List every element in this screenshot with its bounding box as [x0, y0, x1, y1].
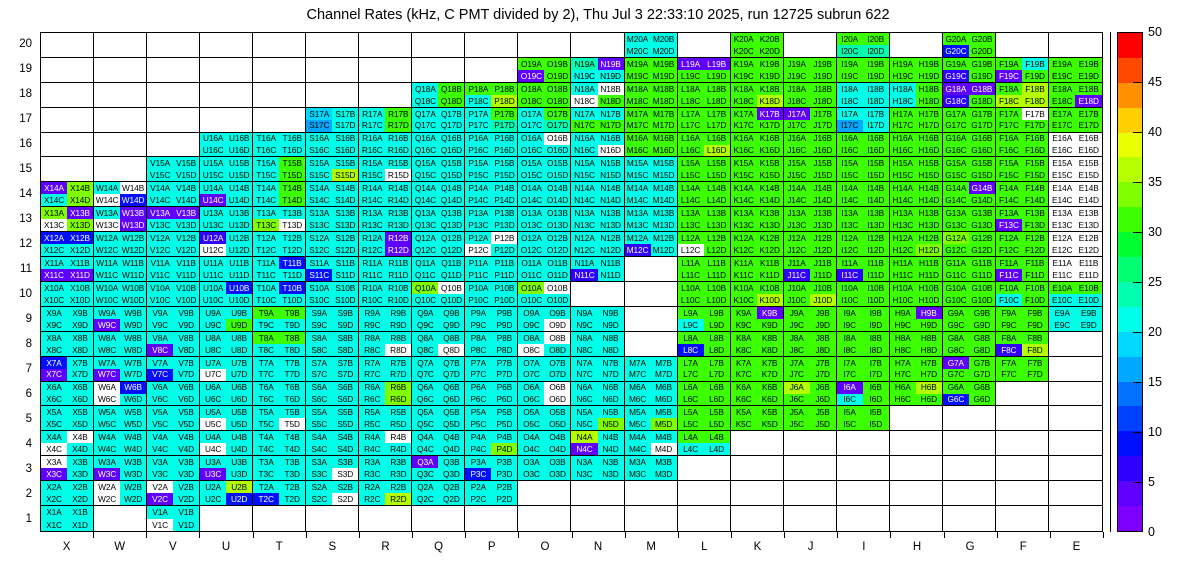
grid-cell-U1[interactable]	[200, 506, 253, 531]
grid-cell-U13[interactable]: U13AU13BU13CU13D	[200, 207, 253, 232]
grid-cell-S9[interactable]: S9AS9BS9CS9D	[306, 307, 359, 332]
grid-cell-F18[interactable]: F18AF18BF18CF18D	[996, 83, 1049, 108]
grid-cell-I2[interactable]	[837, 481, 890, 506]
grid-cell-Q14[interactable]: Q14AQ14BQ14CQ14D	[412, 182, 465, 207]
grid-cell-O5[interactable]: O5AO5BO5CO5D	[518, 406, 571, 431]
grid-cell-F8[interactable]: F8AF8BF8CF8D	[996, 332, 1049, 357]
grid-cell-R19[interactable]	[359, 58, 412, 83]
grid-cell-N18[interactable]: N18AN18BN18CN18D	[571, 83, 624, 108]
grid-cell-U16[interactable]: U16AU16BU16CU16D	[200, 133, 253, 158]
grid-cell-S5[interactable]: S5AS5BS5CS5D	[306, 406, 359, 431]
grid-cell-M12[interactable]: M12AM12BM12CM12D	[625, 232, 678, 257]
grid-cell-O20[interactable]	[518, 33, 571, 58]
grid-cell-P4[interactable]: P4AP4BP4CP4D	[465, 431, 518, 456]
grid-cell-W9[interactable]: W9AW9BW9CW9D	[94, 307, 147, 332]
grid-cell-P7[interactable]: P7AP7BP7CP7D	[465, 357, 518, 382]
grid-cell-T18[interactable]	[253, 83, 306, 108]
grid-cell-U15[interactable]: U15AU15BU15CU15D	[200, 157, 253, 182]
grid-cell-N16[interactable]: N16AN16BN16CN16D	[571, 133, 624, 158]
grid-cell-N20[interactable]	[571, 33, 624, 58]
grid-cell-G20[interactable]: G20AG20BG20CG20D	[943, 33, 996, 58]
grid-cell-G1[interactable]	[943, 506, 996, 531]
grid-cell-W11[interactable]: W11AW11BW11CW11D	[94, 257, 147, 282]
grid-cell-J16[interactable]: J16AJ16BJ16CJ16D	[784, 133, 837, 158]
grid-cell-S11[interactable]: S11AS11BS11CS11D	[306, 257, 359, 282]
grid-cell-R10[interactable]: R10AR10BR10CR10D	[359, 282, 412, 307]
grid-cell-R7[interactable]: R7AR7BR7CR7D	[359, 357, 412, 382]
grid-cell-I3[interactable]	[837, 456, 890, 481]
grid-cell-X6[interactable]: X6AX6BX6CX6D	[41, 382, 94, 407]
grid-cell-E12[interactable]: E12AE12BE12CE12D	[1049, 232, 1102, 257]
grid-cell-N13[interactable]: N13AN13BN13CN13D	[571, 207, 624, 232]
grid-cell-U10[interactable]: U10AU10BU10CU10D	[200, 282, 253, 307]
grid-cell-G12[interactable]: G12AG12BG12CG12D	[943, 232, 996, 257]
grid-cell-I4[interactable]	[837, 431, 890, 456]
grid-cell-I10[interactable]: I10AI10BI10CI10D	[837, 282, 890, 307]
grid-cell-Q19[interactable]	[412, 58, 465, 83]
grid-cell-K12[interactable]: K12AK12BK12CK12D	[731, 232, 784, 257]
grid-cell-Q11[interactable]: Q11AQ11BQ11CQ11D	[412, 257, 465, 282]
grid-cell-M10[interactable]	[625, 282, 678, 307]
grid-cell-L19[interactable]: L19AL19BL19CL19D	[678, 58, 731, 83]
grid-cell-W6[interactable]: W6AW6BW6CW6D	[94, 382, 147, 407]
grid-cell-K1[interactable]	[731, 506, 784, 531]
grid-cell-G7[interactable]: G7AG7BG7CG7D	[943, 357, 996, 382]
grid-cell-I19[interactable]: I19AI19BI19CI19D	[837, 58, 890, 83]
grid-cell-J12[interactable]: J12AJ12BJ12CJ12D	[784, 232, 837, 257]
grid-cell-Q9[interactable]: Q9AQ9BQ9CQ9D	[412, 307, 465, 332]
grid-cell-L11[interactable]: L11AL11BL11CL11D	[678, 257, 731, 282]
grid-cell-E6[interactable]	[1049, 382, 1102, 407]
grid-cell-F19[interactable]: F19AF19BF19CF19D	[996, 58, 1049, 83]
grid-cell-E13[interactable]: E13AE13BE13CE13D	[1049, 207, 1102, 232]
grid-cell-K3[interactable]	[731, 456, 784, 481]
grid-cell-V5[interactable]: V5AV5BV5CV5D	[147, 406, 200, 431]
grid-cell-N8[interactable]: N8AN8BN8CN8D	[571, 332, 624, 357]
grid-cell-H19[interactable]: H19AH19BH19CH19D	[890, 58, 943, 83]
grid-cell-E15[interactable]: E15AE15BE15CE15D	[1049, 157, 1102, 182]
grid-cell-X14[interactable]: X14AX14BX14CX14D	[41, 182, 94, 207]
grid-cell-Q8[interactable]: Q8AQ8BQ8CQ8D	[412, 332, 465, 357]
grid-cell-S19[interactable]	[306, 58, 359, 83]
grid-cell-J4[interactable]	[784, 431, 837, 456]
grid-cell-T3[interactable]: T3AT3BT3CT3D	[253, 456, 306, 481]
grid-cell-V3[interactable]: V3AV3BV3CV3D	[147, 456, 200, 481]
grid-cell-E7[interactable]	[1049, 357, 1102, 382]
grid-cell-G18[interactable]: G18AG18BG18CG18D	[943, 83, 996, 108]
grid-cell-N7[interactable]: N7AN7BN7CN7D	[571, 357, 624, 382]
grid-cell-G3[interactable]	[943, 456, 996, 481]
grid-cell-Q2[interactable]: Q2AQ2BQ2CQ2D	[412, 481, 465, 506]
grid-cell-P9[interactable]: P9AP9BP9CP9D	[465, 307, 518, 332]
grid-cell-K7[interactable]: K7AK7BK7CK7D	[731, 357, 784, 382]
grid-cell-R17[interactable]: R17AR17BR17CR17D	[359, 108, 412, 133]
grid-cell-K20[interactable]: K20AK20BK20CK20D	[731, 33, 784, 58]
grid-cell-H20[interactable]	[890, 33, 943, 58]
grid-cell-P12[interactable]: P12AP12BP12CP12D	[465, 232, 518, 257]
grid-cell-L12[interactable]: L12AL12BL12CL12D	[678, 232, 731, 257]
grid-cell-K9[interactable]: K9AK9BK9CK9D	[731, 307, 784, 332]
grid-cell-F13[interactable]: F13AF13BF13CF13D	[996, 207, 1049, 232]
grid-cell-P20[interactable]	[465, 33, 518, 58]
grid-cell-K8[interactable]: K8AK8BK8CK8D	[731, 332, 784, 357]
grid-cell-S4[interactable]: S4AS4BS4CS4D	[306, 431, 359, 456]
grid-cell-L9[interactable]: L9AL9BL9CL9D	[678, 307, 731, 332]
grid-cell-I11[interactable]: I11AI11BI11CI11D	[837, 257, 890, 282]
grid-cell-L1[interactable]	[678, 506, 731, 531]
grid-cell-L13[interactable]: L13AL13BL13CL13D	[678, 207, 731, 232]
grid-cell-E18[interactable]: E18AE18BE18CE18D	[1049, 83, 1102, 108]
grid-cell-W8[interactable]: W8AW8BW8CW8D	[94, 332, 147, 357]
grid-cell-H9[interactable]: H9AH9BH9CH9D	[890, 307, 943, 332]
grid-cell-K15[interactable]: K15AK15BK15CK15D	[731, 157, 784, 182]
grid-cell-W5[interactable]: W5AW5BW5CW5D	[94, 406, 147, 431]
grid-cell-T14[interactable]: T14AT14BT14CT14D	[253, 182, 306, 207]
grid-cell-V8[interactable]: V8AV8BV8CV8D	[147, 332, 200, 357]
grid-cell-V12[interactable]: V12AV12BV12CV12D	[147, 232, 200, 257]
grid-cell-R14[interactable]: R14AR14BR14CR14D	[359, 182, 412, 207]
grid-cell-T11[interactable]: T11AT11BT11CT11D	[253, 257, 306, 282]
grid-cell-I12[interactable]: I12AI12BI12CI12D	[837, 232, 890, 257]
grid-cell-F4[interactable]	[996, 431, 1049, 456]
grid-cell-R20[interactable]	[359, 33, 412, 58]
grid-cell-F17[interactable]: F17AF17BF17CF17D	[996, 108, 1049, 133]
grid-cell-N14[interactable]: N14AN14BN14CN14D	[571, 182, 624, 207]
grid-cell-M13[interactable]: M13AM13BM13CM13D	[625, 207, 678, 232]
grid-cell-K14[interactable]: K14AK14BK14CK14D	[731, 182, 784, 207]
grid-cell-U5[interactable]: U5AU5BU5CU5D	[200, 406, 253, 431]
grid-cell-R8[interactable]: R8AR8BR8CR8D	[359, 332, 412, 357]
grid-cell-S8[interactable]: S8AS8BS8CS8D	[306, 332, 359, 357]
grid-cell-X4[interactable]: X4AX4BX4CX4D	[41, 431, 94, 456]
grid-cell-X3[interactable]: X3AX3BX3CX3D	[41, 456, 94, 481]
grid-cell-T17[interactable]	[253, 108, 306, 133]
grid-cell-R6[interactable]: R6AR6BR6CR6D	[359, 382, 412, 407]
grid-cell-H11[interactable]: H11AH11BH11CH11D	[890, 257, 943, 282]
grid-cell-F2[interactable]	[996, 481, 1049, 506]
grid-cell-N1[interactable]	[571, 506, 624, 531]
grid-cell-P8[interactable]: P8AP8BP8CP8D	[465, 332, 518, 357]
grid-cell-W14[interactable]: W14AW14BW14CW14D	[94, 182, 147, 207]
grid-cell-F5[interactable]	[996, 406, 1049, 431]
grid-cell-H10[interactable]: H10AH10BH10CH10D	[890, 282, 943, 307]
grid-cell-G13[interactable]: G13AG13BG13CG13D	[943, 207, 996, 232]
grid-cell-T7[interactable]: T7AT7BT7CT7D	[253, 357, 306, 382]
grid-cell-I16[interactable]: I16AI16BI16CI16D	[837, 133, 890, 158]
grid-cell-L6[interactable]: L6AL6BL6CL6D	[678, 382, 731, 407]
grid-cell-R18[interactable]	[359, 83, 412, 108]
grid-cell-N5[interactable]: N5AN5BN5CN5D	[571, 406, 624, 431]
grid-cell-E17[interactable]: E17AE17BE17CE17D	[1049, 108, 1102, 133]
grid-cell-M15[interactable]: M15AM15BM15CM15D	[625, 157, 678, 182]
grid-cell-I18[interactable]: I18AI18BI18CI18D	[837, 83, 890, 108]
grid-cell-K19[interactable]: K19AK19BK19CK19D	[731, 58, 784, 83]
grid-cell-R2[interactable]: R2AR2BR2CR2D	[359, 481, 412, 506]
grid-cell-S18[interactable]	[306, 83, 359, 108]
grid-cell-M4[interactable]: M4AM4BM4CM4D	[625, 431, 678, 456]
grid-cell-P10[interactable]: P10AP10BP10CP10D	[465, 282, 518, 307]
grid-cell-O10[interactable]: O10AO10BO10CO10D	[518, 282, 571, 307]
grid-cell-H5[interactable]	[890, 406, 943, 431]
grid-cell-N11[interactable]: N11AN11BN11CN11D	[571, 257, 624, 282]
grid-cell-K5[interactable]: K5AK5BK5CK5D	[731, 406, 784, 431]
grid-cell-N15[interactable]: N15AN15BN15CN15D	[571, 157, 624, 182]
grid-cell-X19[interactable]	[41, 58, 94, 83]
grid-cell-R1[interactable]	[359, 506, 412, 531]
grid-cell-H17[interactable]: H17AH17BH17CH17D	[890, 108, 943, 133]
grid-cell-W3[interactable]: W3AW3BW3CW3D	[94, 456, 147, 481]
grid-cell-O18[interactable]: O18AO18BO18CO18D	[518, 83, 571, 108]
grid-cell-H18[interactable]: H18AH18BH18CH18D	[890, 83, 943, 108]
grid-cell-R13[interactable]: R13AR13BR13CR13D	[359, 207, 412, 232]
grid-cell-G15[interactable]: G15AG15BG15CG15D	[943, 157, 996, 182]
grid-cell-S14[interactable]: S14AS14BS14CS14D	[306, 182, 359, 207]
grid-cell-G11[interactable]: G11AG11BG11CG11D	[943, 257, 996, 282]
grid-cell-V7[interactable]: V7AV7BV7CV7D	[147, 357, 200, 382]
grid-cell-V2[interactable]: V2AV2BV2CV2D	[147, 481, 200, 506]
grid-cell-S13[interactable]: S13AS13BS13CS13D	[306, 207, 359, 232]
grid-cell-X5[interactable]: X5AX5BX5CX5D	[41, 406, 94, 431]
grid-cell-V16[interactable]	[147, 133, 200, 158]
grid-cell-O14[interactable]: O14AO14BO14CO14D	[518, 182, 571, 207]
grid-cell-T12[interactable]: T12AT12BT12CT12D	[253, 232, 306, 257]
grid-cell-E16[interactable]: E16AE16BE16CE16D	[1049, 133, 1102, 158]
grid-cell-U4[interactable]: U4AU4BU4CU4D	[200, 431, 253, 456]
grid-cell-K16[interactable]: K16AK16BK16CK16D	[731, 133, 784, 158]
grid-cell-E19[interactable]: E19AE19BE19CE19D	[1049, 58, 1102, 83]
grid-cell-U8[interactable]: U8AU8BU8CU8D	[200, 332, 253, 357]
grid-cell-G19[interactable]: G19AG19BG19CG19D	[943, 58, 996, 83]
grid-cell-H13[interactable]: H13AH13BH13CH13D	[890, 207, 943, 232]
grid-cell-I13[interactable]: I13AI13BI13CI13D	[837, 207, 890, 232]
grid-cell-T2[interactable]: T2AT2BT2CT2D	[253, 481, 306, 506]
grid-cell-K17[interactable]: K17AK17BK17CK17D	[731, 108, 784, 133]
grid-cell-U9[interactable]: U9AU9BU9CU9D	[200, 307, 253, 332]
grid-cell-W20[interactable]	[94, 33, 147, 58]
grid-cell-H15[interactable]: H15AH15BH15CH15D	[890, 157, 943, 182]
grid-cell-F11[interactable]: F11AF11BF11CF11D	[996, 257, 1049, 282]
grid-cell-Q4[interactable]: Q4AQ4BQ4CQ4D	[412, 431, 465, 456]
grid-cell-U14[interactable]: U14AU14BU14CU14D	[200, 182, 253, 207]
grid-cell-P5[interactable]: P5AP5BP5CP5D	[465, 406, 518, 431]
grid-cell-W13[interactable]: W13AW13BW13CW13D	[94, 207, 147, 232]
grid-cell-X16[interactable]	[41, 133, 94, 158]
grid-cell-X1[interactable]: X1AX1BX1CX1D	[41, 506, 94, 531]
grid-cell-T6[interactable]: T6AT6BT6CT6D	[253, 382, 306, 407]
grid-cell-P19[interactable]	[465, 58, 518, 83]
grid-cell-V17[interactable]	[147, 108, 200, 133]
grid-cell-L15[interactable]: L15AL15BL15CL15D	[678, 157, 731, 182]
grid-cell-K2[interactable]	[731, 481, 784, 506]
grid-cell-J15[interactable]: J15AJ15BJ15CJ15D	[784, 157, 837, 182]
grid-cell-S17[interactable]: S17AS17BS17CS17D	[306, 108, 359, 133]
grid-cell-H1[interactable]	[890, 506, 943, 531]
grid-cell-N6[interactable]: N6AN6BN6CN6D	[571, 382, 624, 407]
grid-cell-P3[interactable]: P3AP3BP3CP3D	[465, 456, 518, 481]
grid-cell-G5[interactable]	[943, 406, 996, 431]
grid-cell-H16[interactable]: H16AH16BH16CH16D	[890, 133, 943, 158]
grid-cell-E14[interactable]: E14AE14BE14CE14D	[1049, 182, 1102, 207]
grid-cell-W1[interactable]	[94, 506, 147, 531]
grid-cell-U7[interactable]: U7AU7BU7CU7D	[200, 357, 253, 382]
grid-cell-X13[interactable]: X13AX13BX13CX13D	[41, 207, 94, 232]
grid-cell-H12[interactable]: H12AH12BH12CH12D	[890, 232, 943, 257]
grid-cell-T20[interactable]	[253, 33, 306, 58]
grid-cell-W4[interactable]: W4AW4BW4CW4D	[94, 431, 147, 456]
grid-cell-I9[interactable]: I9AI9BI9CI9D	[837, 307, 890, 332]
grid-cell-P15[interactable]: P15AP15BP15CP15D	[465, 157, 518, 182]
grid-cell-T10[interactable]: T10AT10BT10CT10D	[253, 282, 306, 307]
grid-cell-W2[interactable]: W2AW2BW2CW2D	[94, 481, 147, 506]
grid-cell-U20[interactable]	[200, 33, 253, 58]
grid-cell-I7[interactable]: I7AI7BI7CI7D	[837, 357, 890, 382]
grid-cell-H14[interactable]: H14AH14BH14CH14D	[890, 182, 943, 207]
grid-cell-M11[interactable]	[625, 257, 678, 282]
grid-cell-I14[interactable]: I14AI14BI14CI14D	[837, 182, 890, 207]
grid-cell-V9[interactable]: V9AV9BV9CV9D	[147, 307, 200, 332]
grid-cell-X12[interactable]: X12AX12BX12CX12D	[41, 232, 94, 257]
grid-cell-F7[interactable]: F7AF7BF7CF7D	[996, 357, 1049, 382]
grid-cell-N9[interactable]: N9AN9BN9CN9D	[571, 307, 624, 332]
grid-cell-I8[interactable]: I8AI8BI8CI8D	[837, 332, 890, 357]
grid-cell-X8[interactable]: X8AX8BX8CX8D	[41, 332, 94, 357]
grid-cell-M3[interactable]: M3AM3BM3CM3D	[625, 456, 678, 481]
grid-cell-I20[interactable]: I20AI20BI20CI20D	[837, 33, 890, 58]
grid-cell-R4[interactable]: R4AR4BR4CR4D	[359, 431, 412, 456]
grid-cell-H4[interactable]	[890, 431, 943, 456]
grid-cell-J17[interactable]: J17AJ17BJ17CJ17D	[784, 108, 837, 133]
grid-cell-V11[interactable]: V11AV11BV11CV11D	[147, 257, 200, 282]
grid-cell-L20[interactable]	[678, 33, 731, 58]
grid-cell-O8[interactable]: O8AO8BO8CO8D	[518, 332, 571, 357]
grid-cell-N12[interactable]: N12AN12BN12CN12D	[571, 232, 624, 257]
grid-cell-J10[interactable]: J10AJ10BJ10CJ10D	[784, 282, 837, 307]
grid-cell-Q15[interactable]: Q15AQ15BQ15CQ15D	[412, 157, 465, 182]
grid-cell-F20[interactable]	[996, 33, 1049, 58]
grid-cell-R15[interactable]: R15AR15BR15CR15D	[359, 157, 412, 182]
grid-cell-F9[interactable]: F9AF9BF9CF9D	[996, 307, 1049, 332]
grid-cell-U19[interactable]	[200, 58, 253, 83]
grid-cell-J6[interactable]: J6AJ6BJ6CJ6D	[784, 382, 837, 407]
grid-cell-E4[interactable]	[1049, 431, 1102, 456]
grid-cell-P2[interactable]: P2AP2BP2CP2D	[465, 481, 518, 506]
grid-cell-G14[interactable]: G14AG14BG14CG14D	[943, 182, 996, 207]
grid-cell-V15[interactable]: V15AV15BV15CV15D	[147, 157, 200, 182]
grid-cell-S3[interactable]: S3AS3BS3CS3D	[306, 456, 359, 481]
grid-cell-M7[interactable]: M7AM7BM7CM7D	[625, 357, 678, 382]
grid-cell-O17[interactable]: O17AO17BO17CO17D	[518, 108, 571, 133]
grid-cell-I1[interactable]	[837, 506, 890, 531]
grid-cell-P18[interactable]: P18AP18BP18CP18D	[465, 83, 518, 108]
grid-cell-U11[interactable]: U11AU11BU11CU11D	[200, 257, 253, 282]
grid-cell-R11[interactable]: R11AR11BR11CR11D	[359, 257, 412, 282]
grid-cell-T9[interactable]: T9AT9BT9CT9D	[253, 307, 306, 332]
grid-cell-T5[interactable]: T5AT5BT5CT5D	[253, 406, 306, 431]
grid-cell-L18[interactable]: L18AL18BL18CL18D	[678, 83, 731, 108]
grid-cell-F6[interactable]	[996, 382, 1049, 407]
grid-cell-R12[interactable]: R12AR12BR12CR12D	[359, 232, 412, 257]
grid-cell-R5[interactable]: R5AR5BR5CR5D	[359, 406, 412, 431]
grid-cell-M14[interactable]: M14AM14BM14CM14D	[625, 182, 678, 207]
grid-cell-X9[interactable]: X9AX9BX9CX9D	[41, 307, 94, 332]
grid-cell-P16[interactable]: P16AP16BP16CP16D	[465, 133, 518, 158]
grid-cell-P11[interactable]: P11AP11BP11CP11D	[465, 257, 518, 282]
grid-cell-F14[interactable]: F14AF14BF14CF14D	[996, 182, 1049, 207]
grid-cell-G6[interactable]: G6AG6BG6CG6D	[943, 382, 996, 407]
grid-cell-W7[interactable]: W7AW7BW7CW7D	[94, 357, 147, 382]
grid-cell-K13[interactable]: K13AK13BK13CK13D	[731, 207, 784, 232]
grid-cell-S7[interactable]: S7AS7BS7CS7D	[306, 357, 359, 382]
grid-cell-L17[interactable]: L17AL17BL17CL17D	[678, 108, 731, 133]
grid-cell-Q3[interactable]: Q3AQ3BQ3CQ3D	[412, 456, 465, 481]
grid-cell-L10[interactable]: L10AL10BL10CL10D	[678, 282, 731, 307]
grid-cell-I6[interactable]: I6AI6BI6CI6D	[837, 382, 890, 407]
grid-cell-G16[interactable]: G16AG16BG16CG16D	[943, 133, 996, 158]
grid-cell-F16[interactable]: F16AF16BF16CF16D	[996, 133, 1049, 158]
grid-cell-J2[interactable]	[784, 481, 837, 506]
grid-cell-H6[interactable]: H6AH6BH6CH6D	[890, 382, 943, 407]
grid-cell-K10[interactable]: K10AK10BK10CK10D	[731, 282, 784, 307]
grid-cell-H3[interactable]	[890, 456, 943, 481]
grid-cell-I15[interactable]: I15AI15BI15CI15D	[837, 157, 890, 182]
grid-cell-T15[interactable]: T15AT15BT15CT15D	[253, 157, 306, 182]
grid-cell-S16[interactable]: S16AS16BS16CS16D	[306, 133, 359, 158]
grid-cell-X2[interactable]: X2AX2BX2CX2D	[41, 481, 94, 506]
grid-cell-K18[interactable]: K18AK18BK18CK18D	[731, 83, 784, 108]
grid-cell-X17[interactable]	[41, 108, 94, 133]
grid-cell-Q13[interactable]: Q13AQ13BQ13CQ13D	[412, 207, 465, 232]
grid-cell-Q7[interactable]: Q7AQ7BQ7CQ7D	[412, 357, 465, 382]
grid-cell-P14[interactable]: P14AP14BP14CP14D	[465, 182, 518, 207]
grid-cell-E8[interactable]	[1049, 332, 1102, 357]
grid-cell-O15[interactable]: O15AO15BO15CO15D	[518, 157, 571, 182]
grid-cell-X7[interactable]: X7AX7BX7CX7D	[41, 357, 94, 382]
grid-cell-G10[interactable]: G10AG10BG10CG10D	[943, 282, 996, 307]
grid-cell-J7[interactable]: J7AJ7BJ7CJ7D	[784, 357, 837, 382]
grid-cell-T13[interactable]: T13AT13BT13CT13D	[253, 207, 306, 232]
grid-cell-U12[interactable]: U12AU12BU12CU12D	[200, 232, 253, 257]
grid-cell-G9[interactable]: G9AG9BG9CG9D	[943, 307, 996, 332]
grid-cell-R16[interactable]: R16AR16BR16CR16D	[359, 133, 412, 158]
grid-cell-F3[interactable]	[996, 456, 1049, 481]
grid-cell-U2[interactable]: U2AU2BU2CU2D	[200, 481, 253, 506]
grid-cell-M5[interactable]: M5AM5BM5CM5D	[625, 406, 678, 431]
grid-cell-O12[interactable]: O12AO12BO12CO12D	[518, 232, 571, 257]
grid-cell-T1[interactable]	[253, 506, 306, 531]
grid-cell-J13[interactable]: J13AJ13BJ13CJ13D	[784, 207, 837, 232]
grid-cell-Q16[interactable]: Q16AQ16BQ16CQ16D	[412, 133, 465, 158]
grid-cell-I5[interactable]: I5AI5BI5CI5D	[837, 406, 890, 431]
grid-cell-V1[interactable]: V1AV1BV1CV1D	[147, 506, 200, 531]
grid-cell-G17[interactable]: G17AG17BG17CG17D	[943, 108, 996, 133]
grid-cell-W18[interactable]	[94, 83, 147, 108]
grid-cell-V4[interactable]: V4AV4BV4CV4D	[147, 431, 200, 456]
grid-cell-L8[interactable]: L8AL8BL8CL8D	[678, 332, 731, 357]
grid-cell-S6[interactable]: S6AS6BS6CS6D	[306, 382, 359, 407]
grid-cell-X18[interactable]	[41, 83, 94, 108]
grid-cell-N10[interactable]	[571, 282, 624, 307]
grid-cell-Q6[interactable]: Q6AQ6BQ6CQ6D	[412, 382, 465, 407]
grid-cell-F10[interactable]: F10AF10BF10CF10D	[996, 282, 1049, 307]
grid-cell-J8[interactable]: J8AJ8BJ8CJ8D	[784, 332, 837, 357]
grid-cell-S10[interactable]: S10AS10BS10CS10D	[306, 282, 359, 307]
grid-cell-W17[interactable]	[94, 108, 147, 133]
grid-cell-Q10[interactable]: Q10AQ10BQ10CQ10D	[412, 282, 465, 307]
grid-cell-L16[interactable]: L16AL16BL16CL16D	[678, 133, 731, 158]
grid-cell-E10[interactable]: E10AE10BE10CE10D	[1049, 282, 1102, 307]
grid-cell-G8[interactable]: G8AG8BG8CG8D	[943, 332, 996, 357]
grid-cell-G2[interactable]	[943, 481, 996, 506]
